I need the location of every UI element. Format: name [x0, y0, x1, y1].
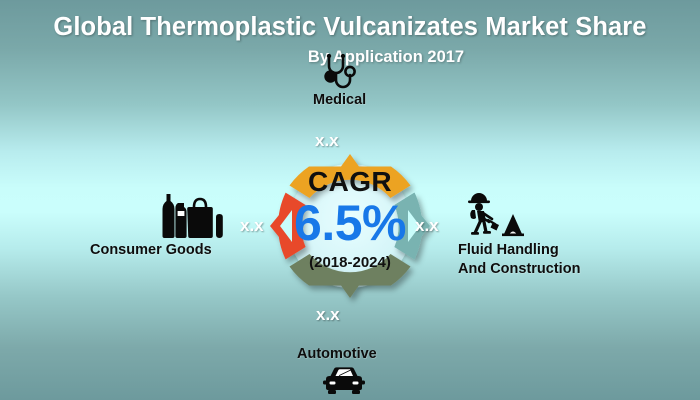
segment-value-automotive: x.x	[316, 305, 340, 325]
category-label-fluid-line1: Fluid Handling	[458, 241, 580, 260]
category-label-consumer: Consumer Goods	[90, 241, 212, 260]
car-icon	[320, 366, 368, 396]
construction-worker-icon	[464, 190, 526, 240]
page-subtitle: By Application 2017	[72, 48, 700, 67]
page-title: Global Thermoplastic Vulcanizates Market…	[0, 14, 700, 41]
segment-value-medical: x.x	[315, 131, 339, 151]
segment-value-consumer: x.x	[240, 216, 264, 236]
category-label-medical: Medical	[313, 91, 366, 110]
category-label-fluid: Fluid Handling And Construction	[458, 241, 580, 278]
stethoscope-icon	[321, 54, 361, 91]
segment-value-fluid: x.x	[415, 216, 439, 236]
infographic-root: Global Thermoplastic Vulcanizates Market…	[0, 0, 700, 400]
category-label-fluid-line2: And Construction	[458, 260, 580, 279]
category-label-automotive: Automotive	[297, 345, 377, 364]
consumer-goods-icon	[158, 190, 228, 240]
